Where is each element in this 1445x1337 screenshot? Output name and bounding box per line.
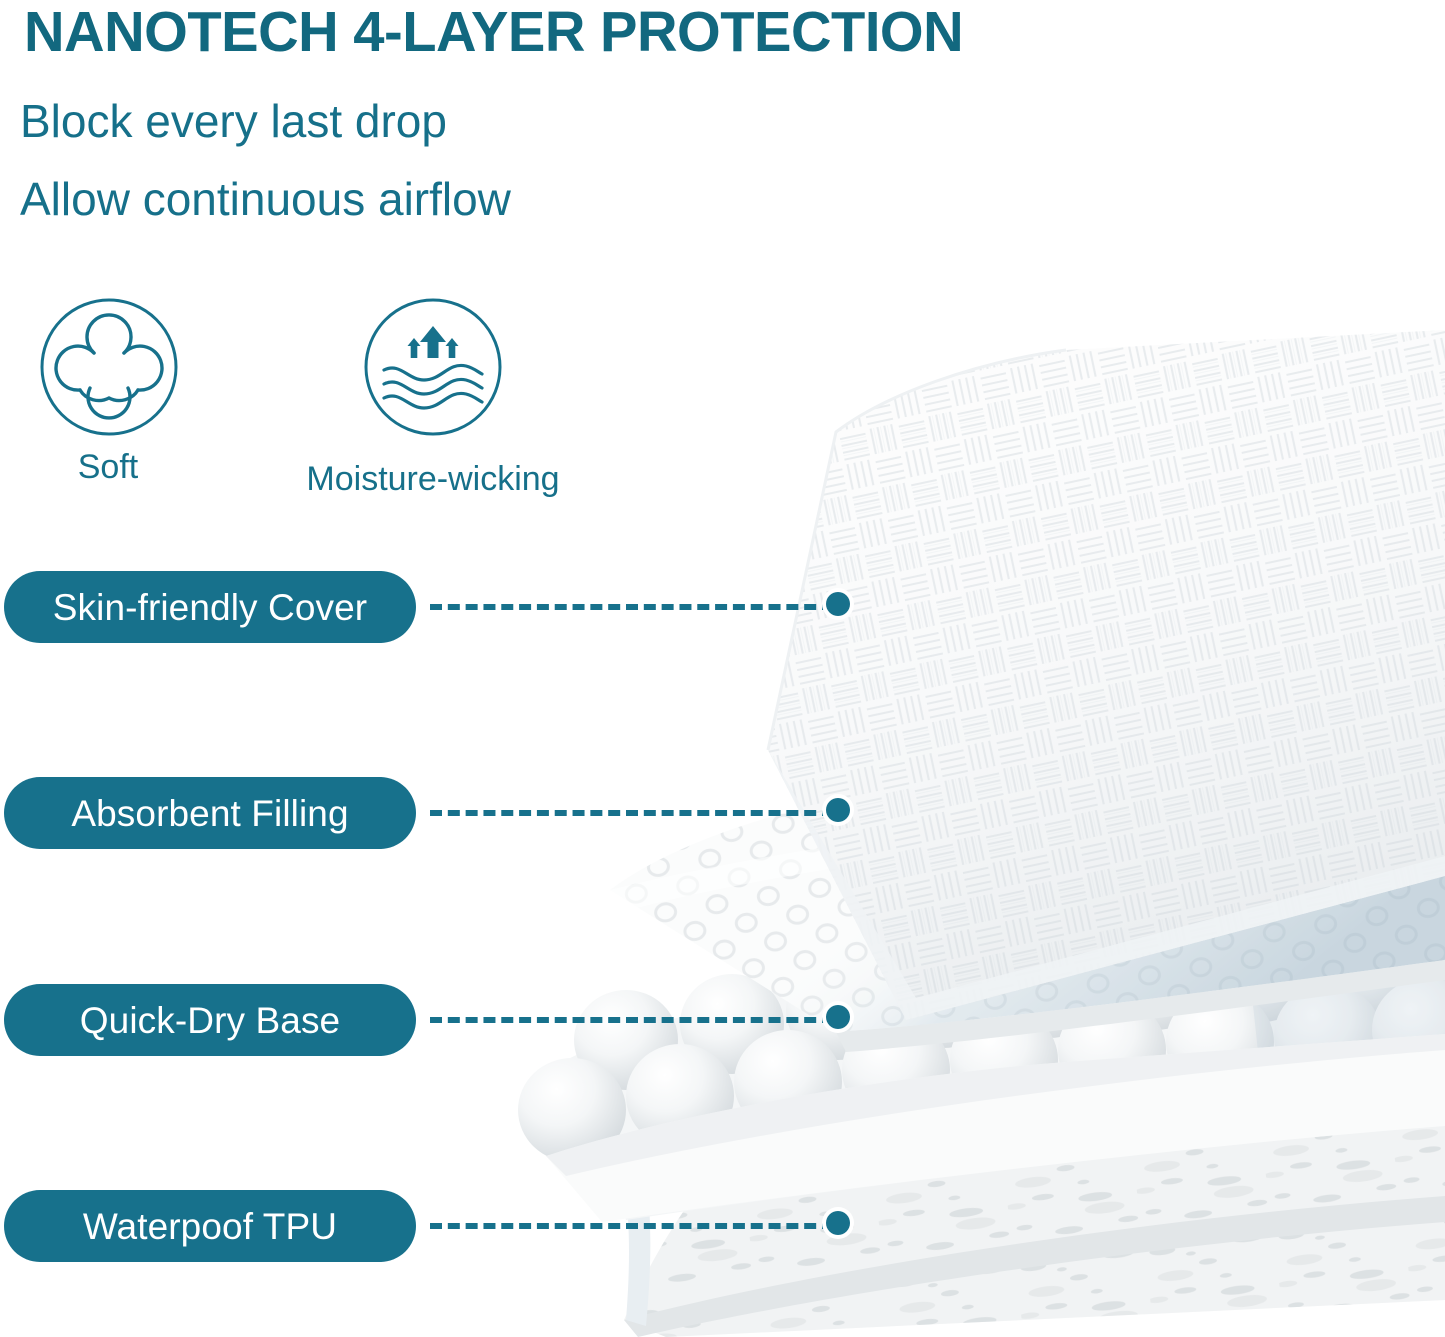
leader-line-absorbent-filling: [430, 810, 834, 816]
leader-line-quick-dry-base: [430, 1017, 834, 1023]
leader-line-skin-friendly-cover: [430, 604, 834, 610]
leader-dot-quick-dry-base: [826, 1005, 850, 1029]
leader-line-waterproof-tpu: [430, 1223, 834, 1229]
subtitle-line-2: Allow continuous airflow: [20, 176, 511, 222]
callout-pill-absorbent-filling[interactable]: Absorbent Filling: [4, 777, 416, 849]
callout-pill-quick-dry-base[interactable]: Quick-Dry Base: [4, 984, 416, 1056]
callout-label: Absorbent Filling: [71, 795, 348, 832]
cotton-cloud-icon: [38, 296, 180, 438]
callout-pill-skin-friendly-cover[interactable]: Skin-friendly Cover: [4, 571, 416, 643]
feature-soft: Soft: [38, 296, 180, 484]
product-layer-stack-image: [506, 320, 1445, 1337]
subtitle-line-1: Block every last drop: [20, 98, 447, 144]
leader-dot-waterproof-tpu: [826, 1211, 850, 1235]
leader-dot-absorbent-filling: [826, 798, 850, 822]
leader-dot-skin-friendly-cover: [826, 592, 850, 616]
moisture-wicking-icon: [362, 296, 504, 438]
callout-label: Quick-Dry Base: [80, 1002, 340, 1039]
callout-label: Skin-friendly Cover: [53, 589, 367, 626]
callout-pill-waterproof-tpu[interactable]: Waterpoof TPU: [4, 1190, 416, 1262]
page-title: NANOTECH 4-LAYER PROTECTION: [24, 2, 963, 64]
feature-moisture-wicking: Moisture-wicking: [362, 296, 504, 438]
feature-soft-label: Soft: [36, 450, 180, 484]
callout-label: Waterpoof TPU: [83, 1208, 337, 1245]
